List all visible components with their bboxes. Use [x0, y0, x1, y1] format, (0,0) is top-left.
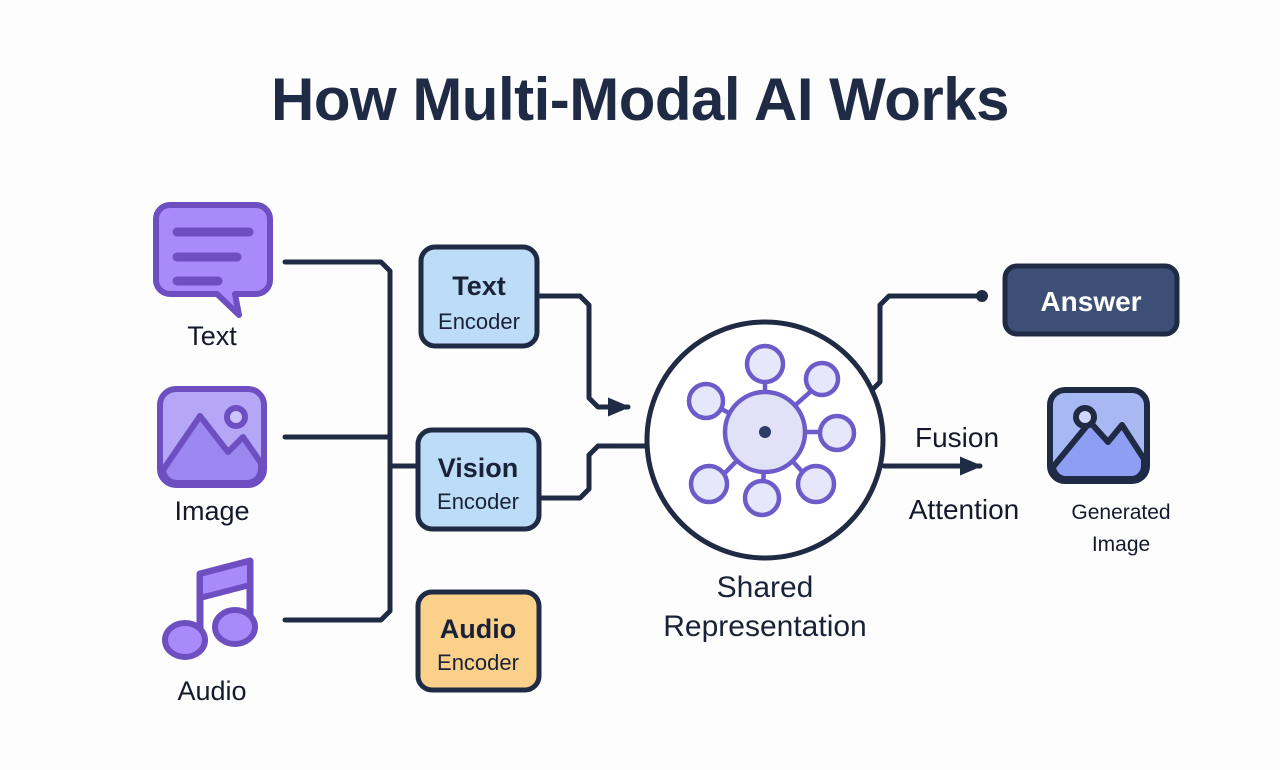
diagram-canvas: How Multi-Modal AI Works — [0, 0, 1280, 770]
output-generated-image[interactable]: Generated Image — [1050, 390, 1171, 556]
shared-representation-node[interactable] — [647, 322, 883, 558]
generated-image-label-line2: Image — [1092, 533, 1150, 556]
speech-bubble-icon — [156, 205, 270, 315]
input-audio-label: Audio — [177, 676, 246, 706]
music-note-icon — [165, 561, 255, 657]
fusion-label: Fusion — [915, 422, 999, 453]
page-title: How Multi-Modal AI Works — [271, 66, 1009, 133]
input-text[interactable]: Text — [156, 205, 270, 351]
output-answer[interactable]: Answer — [1005, 266, 1177, 334]
encoder-audio[interactable]: Audio Encoder — [418, 592, 539, 690]
input-text-label: Text — [187, 321, 237, 351]
encoder-vision-subtitle: Encoder — [437, 489, 519, 514]
multimodal-ai-diagram: How Multi-Modal AI Works — [0, 0, 1280, 770]
encoder-audio-title: Audio — [440, 614, 516, 644]
generated-image-label-line1: Generated — [1071, 501, 1170, 524]
encoder-to-core-connectors — [537, 296, 662, 498]
picture-icon — [1050, 390, 1147, 481]
input-audio[interactable]: Audio — [165, 561, 255, 706]
encoder-text-title: Text — [452, 271, 506, 301]
picture-icon — [160, 389, 264, 485]
encoder-vision-title: Vision — [438, 453, 519, 483]
connector-core-to-answer — [872, 296, 978, 390]
input-to-encoder-connectors — [285, 262, 418, 620]
encoder-vision[interactable]: Vision Encoder — [418, 430, 539, 529]
connector-audio-bus — [285, 466, 390, 620]
answer-label: Answer — [1040, 286, 1141, 317]
input-image[interactable]: Image — [160, 389, 264, 526]
input-image-label: Image — [174, 496, 249, 526]
encoder-text[interactable]: Text Encoder — [421, 247, 537, 346]
connector-text-encoder-to-core — [537, 296, 628, 407]
attention-label: Attention — [909, 494, 1020, 525]
encoder-audio-subtitle: Encoder — [437, 650, 519, 675]
shared-representation-label-line2: Representation — [663, 610, 866, 643]
encoder-text-subtitle: Encoder — [438, 309, 520, 334]
connector-answer-endpoint-dot — [976, 290, 988, 302]
connector-vision-encoder-to-core — [537, 446, 662, 498]
shared-representation-label-line1: Shared — [717, 571, 814, 604]
